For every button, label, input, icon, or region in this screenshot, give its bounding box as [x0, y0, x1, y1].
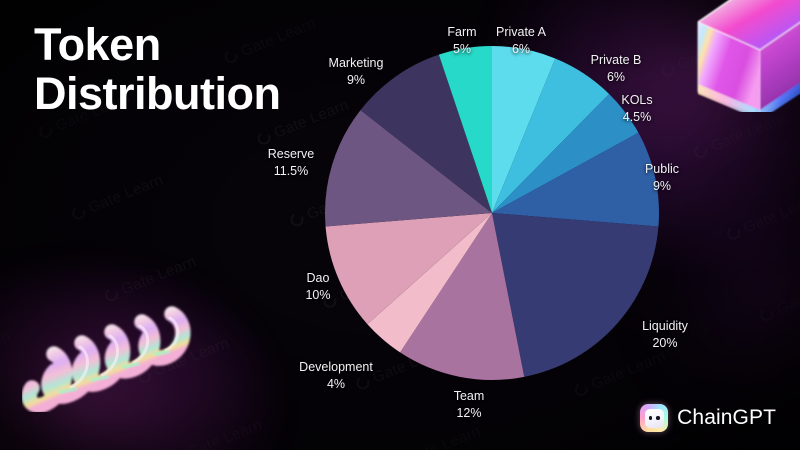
pie-label-private-b-name: Private B	[591, 53, 642, 67]
page-title-line-2: Distribution	[34, 69, 280, 118]
holographic-spiral-icon	[22, 292, 200, 412]
chaingpt-eye-left	[649, 416, 653, 420]
glow-bottom-left	[0, 260, 280, 450]
watermark-item: Gate Learn	[394, 0, 612, 24]
pie-label-public-name: Public	[645, 162, 679, 176]
pie-label-kols-name: KOLs	[621, 93, 652, 107]
pie-label-marketing: Marketing 9%	[313, 55, 399, 88]
gate-g-icon	[573, 381, 589, 397]
pie-label-team: Team 12%	[440, 388, 498, 421]
watermark-text: Gate Learn	[0, 409, 46, 450]
holographic-cube-icon	[674, 0, 800, 112]
watermark-item: Gate Learn	[612, 0, 800, 31]
gate-g-icon	[660, 62, 676, 78]
watermark-item: Gate Learn	[711, 119, 800, 276]
pie-label-marketing-name: Marketing	[329, 56, 384, 70]
gate-g-icon	[71, 205, 87, 221]
watermark-text: Gate Learn	[86, 171, 166, 216]
pie-label-public-pct: 9%	[632, 178, 692, 195]
watermark-text: Gate Learn	[741, 191, 800, 236]
pie-label-team-name: Team	[454, 389, 485, 403]
chaingpt-logo-icon	[640, 404, 668, 432]
pie-label-dao: Dao 10%	[289, 270, 347, 303]
watermark-item: Gate Learn	[56, 99, 274, 256]
watermark-text: Gate Learn	[708, 109, 788, 154]
pie-label-kols-pct: 4.5%	[604, 109, 670, 126]
brand-name: ChainGPT	[677, 406, 776, 430]
watermark-text: Gate Learn	[119, 252, 199, 297]
gate-g-icon	[137, 368, 153, 384]
pie-label-private-b-pct: 6%	[578, 69, 654, 86]
watermark-item: Gate Learn	[0, 419, 188, 450]
page-title: Token Distribution	[34, 20, 280, 118]
watermark-item: Gate Learn	[89, 181, 307, 338]
pie-label-development: Development 4%	[290, 359, 382, 392]
pie-label-public: Public 9%	[632, 161, 692, 194]
chaingpt-face	[645, 409, 664, 428]
pie-label-liquidity-name: Liquidity	[642, 319, 688, 333]
watermark-text: Gate Learn	[0, 327, 13, 372]
pie-label-reserve-name: Reserve	[268, 147, 315, 161]
pie-label-dao-name: Dao	[307, 271, 330, 285]
pie-label-private-a: Private A 6%	[483, 24, 559, 57]
pie-label-private-a-name: Private A	[496, 25, 546, 39]
watermark-text: Gate Learn	[774, 272, 800, 317]
slide-canvas: Gate LearnGate LearnGate LearnGate Learn…	[0, 0, 800, 450]
watermark-item: Gate Learn	[0, 256, 122, 413]
pie-label-farm-name: Farm	[447, 25, 476, 39]
pie-label-liquidity: Liquidity 20%	[628, 318, 702, 351]
watermark-text: Gate Learn	[675, 28, 755, 73]
watermark-text: Gate Learn	[185, 416, 265, 450]
gate-g-icon	[693, 143, 709, 159]
watermark-item: Gate Learn	[744, 201, 800, 358]
pie-label-reserve-pct: 11.5%	[254, 163, 328, 180]
pie-label-reserve: Reserve 11.5%	[254, 146, 328, 179]
pie-label-development-pct: 4%	[290, 376, 382, 393]
watermark-text: Gate Learn	[152, 334, 232, 379]
watermark-item: Gate Learn	[188, 426, 406, 450]
pie-label-kols: KOLs 4.5%	[604, 92, 670, 125]
gate-g-icon	[104, 286, 120, 302]
gate-g-icon	[759, 306, 775, 322]
pie-label-team-pct: 12%	[440, 405, 498, 422]
brand-logo: ChainGPT	[640, 404, 776, 432]
watermark-item: Gate Learn	[678, 38, 800, 195]
pie-label-liquidity-pct: 20%	[628, 335, 702, 352]
chaingpt-eye-right	[656, 416, 660, 420]
watermark-item: Gate Learn	[0, 337, 155, 450]
pie-label-marketing-pct: 9%	[313, 72, 399, 89]
watermark-item: Gate Learn	[0, 174, 89, 331]
pie-label-development-name: Development	[299, 360, 373, 374]
gate-g-icon	[289, 211, 305, 227]
gate-g-icon	[256, 130, 272, 146]
pie-label-dao-pct: 10%	[289, 287, 347, 304]
watermark-text: Gate Learn	[403, 422, 483, 450]
gate-g-icon	[726, 225, 742, 241]
gate-g-icon	[38, 123, 54, 139]
page-title-line-1: Token	[34, 20, 280, 69]
pie-label-private-a-pct: 6%	[483, 41, 559, 58]
pie-label-private-b: Private B 6%	[578, 52, 654, 85]
